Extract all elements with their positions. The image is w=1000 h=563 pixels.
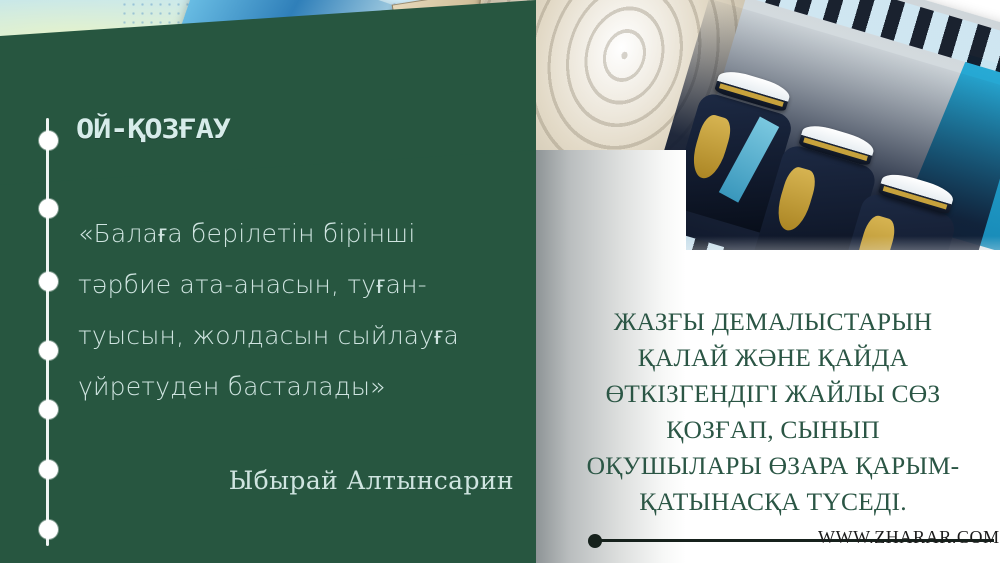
site-watermark: WWW.ZHARAR.COM: [818, 527, 1000, 548]
quote-text: «Балаға берілетін бірінші тәрбие ата-ана…: [78, 208, 498, 412]
timeline-axis-line: [46, 118, 49, 546]
timeline-dot: [39, 131, 58, 150]
slide-canvas: нефть 100 50: [0, 0, 1000, 563]
headline-line: ӨТКІЗГЕНДІГІ ЖАЙЛЫ СӨЗ: [556, 376, 990, 412]
quote-line: тәрбие ата-анасын, туған-: [78, 259, 498, 310]
headline-line: ҚОЗҒАП, СЫНЫП: [556, 412, 990, 448]
timeline-decoration: [41, 118, 55, 546]
activity-headline: ЖАЗҒЫ ДЕМАЛЫСТАРЫН ҚАЛАЙ ЖӘНЕ ҚАЙДА ӨТКІ…: [556, 304, 990, 520]
headline-line: ҚАЛАЙ ЖӘНЕ ҚАЙДА: [556, 340, 990, 376]
quote-line: туысын, жолдасын сыйлауға: [78, 310, 498, 361]
quote-line: үйретуден басталады»: [78, 361, 498, 412]
headline-line: ОҚУШЫЛАРЫ ӨЗАРА ҚАРЫМ-: [556, 448, 990, 484]
timeline-dot: [39, 272, 58, 291]
quote-line: «Балаға берілетін бірінші: [78, 208, 498, 259]
section-kicker-label: ОЙ-ҚОЗҒАУ: [76, 114, 230, 145]
quote-author: Ыбырай Алтынсарин: [78, 466, 514, 495]
headline-line: ЖАЗҒЫ ДЕМАЛЫСТАРЫН: [556, 304, 990, 340]
timeline-dot: [39, 341, 58, 360]
headline-line: ҚАТЫНАСҚА ТҮСЕДІ.: [556, 484, 990, 520]
